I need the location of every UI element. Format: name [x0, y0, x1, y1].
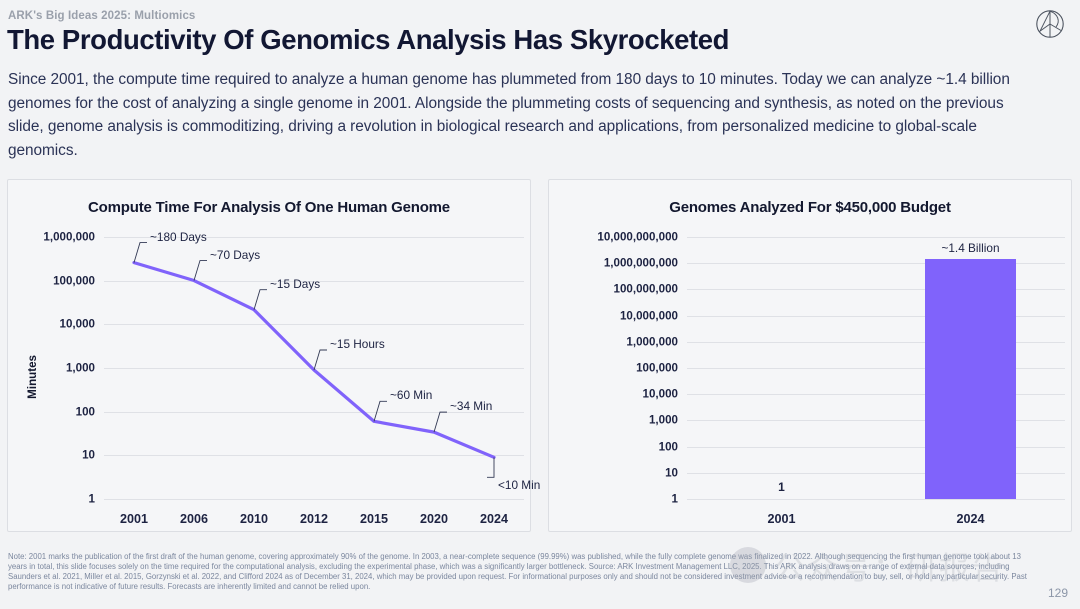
line-series [104, 237, 524, 499]
y-axis-tick: 100,000,000 [614, 283, 687, 296]
x-axis-tick: 2012 [300, 512, 328, 526]
y-axis-tick: 100,000 [636, 362, 687, 375]
x-axis-tick: 2020 [420, 512, 448, 526]
compute-time-chart-panel: Compute Time For Analysis Of One Human G… [7, 179, 531, 532]
gridline [687, 499, 1065, 500]
y-axis-tick: 10 [82, 449, 104, 462]
x-axis-tick: 2001 [120, 512, 148, 526]
x-axis-tick: 2024 [480, 512, 508, 526]
y-axis-tick: 10,000,000,000 [597, 231, 687, 244]
y-axis-tick: 100 [76, 405, 104, 418]
y-axis-tick: 10 [665, 466, 687, 479]
y-axis-tick: 1,000,000,000 [604, 257, 687, 270]
y-axis-title-left: Minutes [26, 355, 39, 399]
y-axis-tick: 1,000 [649, 414, 687, 427]
y-axis-tick: 1,000 [66, 362, 104, 375]
x-axis-tick: 2006 [180, 512, 208, 526]
chart-title-left: Compute Time For Analysis Of One Human G… [8, 199, 530, 216]
eyebrow-label: ARK's Big Ideas 2025: Multiomics [8, 10, 195, 22]
y-axis-tick: 10,000 [643, 388, 687, 401]
y-axis-tick: 1,000,000 [43, 231, 104, 244]
page-subtitle: Since 2001, the compute time required to… [8, 68, 1020, 162]
plot-area-right: 10,000,000,0001,000,000,000100,000,00010… [687, 237, 1065, 499]
gridline [687, 237, 1065, 238]
y-axis-tick: 100 [659, 440, 687, 453]
x-axis-tick: 2024 [956, 512, 984, 526]
y-axis-tick: 1 [89, 493, 104, 506]
y-axis-tick: 100,000 [53, 274, 104, 287]
y-axis-tick: 1,000,000 [626, 335, 687, 348]
footnote-text: Note: 2001 marks the publication of the … [8, 552, 1038, 592]
x-axis-tick: 2010 [240, 512, 268, 526]
bar [925, 259, 1016, 499]
x-axis-tick: 2001 [767, 512, 795, 526]
bar-value-label: ~1.4 Billion [941, 241, 999, 255]
slide-root: ARK's Big Ideas 2025: Multiomics The Pro… [0, 0, 1080, 609]
gridline [104, 499, 524, 500]
bar-value-label: 1 [778, 480, 785, 494]
page-number: 129 [1048, 586, 1068, 600]
chart-title-right: Genomes Analyzed For $450,000 Budget [549, 199, 1071, 216]
y-axis-tick: 10,000 [60, 318, 104, 331]
page-title: The Productivity Of Genomics Analysis Ha… [7, 24, 729, 56]
plot-area-left: 1,000,000100,00010,0001,0001001012001200… [104, 237, 524, 499]
ark-logo-icon [1034, 8, 1066, 40]
genomes-analyzed-chart-panel: Genomes Analyzed For $450,000 Budget Num… [548, 179, 1072, 532]
x-axis-tick: 2015 [360, 512, 388, 526]
y-axis-tick: 1 [672, 493, 687, 506]
y-axis-tick: 10,000,000 [620, 309, 687, 322]
